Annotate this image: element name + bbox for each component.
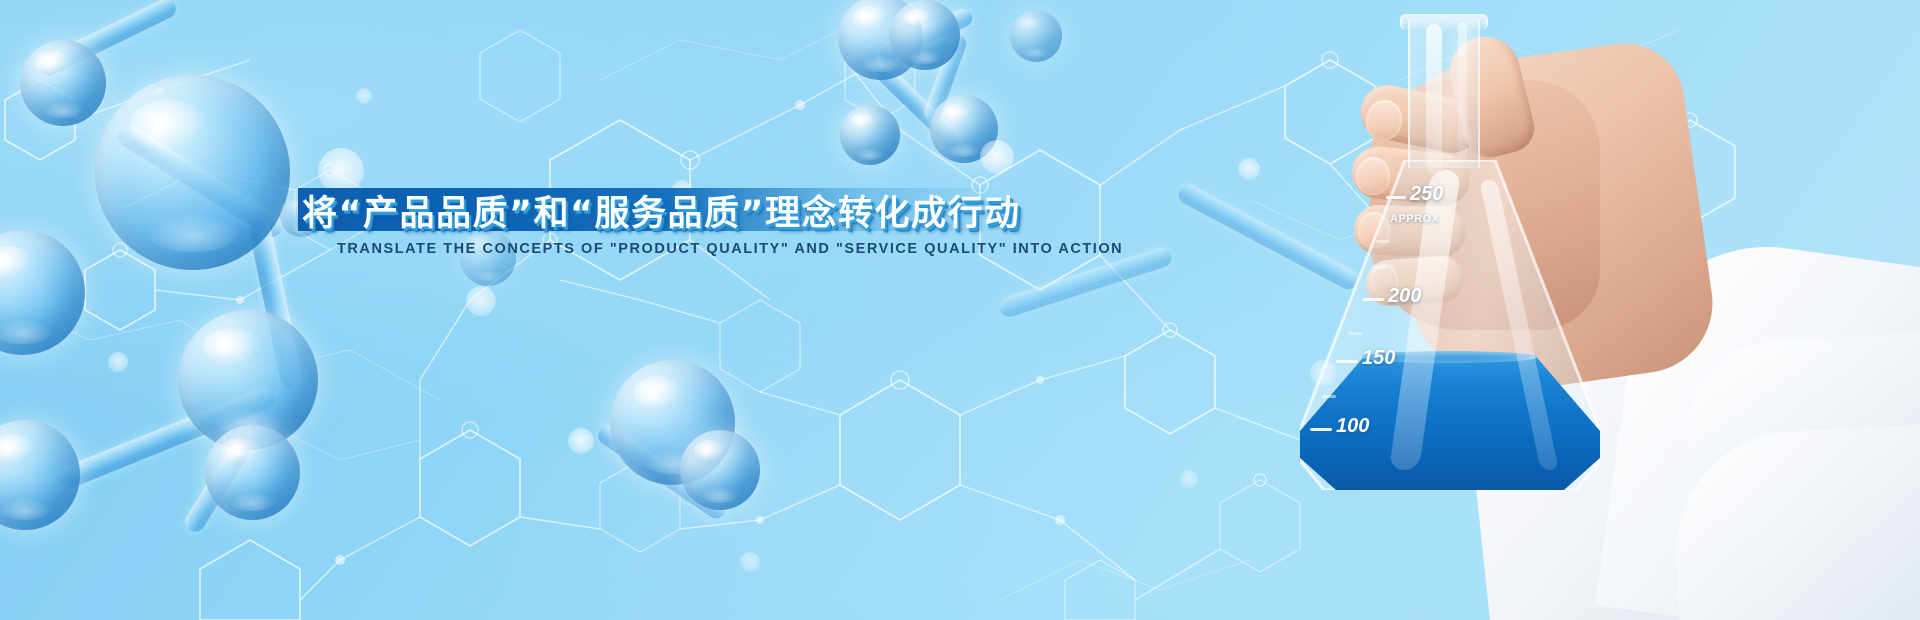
- molecule-sphere: [840, 105, 900, 165]
- hero-banner: 250 APPROX 200 150 100 将“产品品质”和“服务品质”理念转…: [0, 0, 1920, 620]
- page-title: 将“产品品质”和“服务品质”理念转化成行动: [302, 184, 1062, 236]
- graduation-label-100: 100: [1336, 415, 1369, 438]
- bokeh-dot: [356, 88, 372, 104]
- molecule-sphere: [205, 425, 300, 520]
- flask-rim: [1400, 14, 1488, 30]
- page-subtitle: TRANSLATE THE CONCEPTS OF "PRODUCT QUALI…: [337, 241, 1237, 257]
- flask-neck: [1408, 18, 1480, 168]
- flask-highlight: [1426, 24, 1442, 174]
- bokeh-dot: [980, 140, 1014, 174]
- graduation-label-250: 250: [1410, 183, 1443, 206]
- graduation-line-250: [1386, 196, 1406, 199]
- graduation-tick: [1348, 332, 1362, 335]
- molecule-sphere: [0, 420, 80, 530]
- graduation-tick: [1376, 240, 1390, 243]
- molecule-sphere: [0, 230, 85, 355]
- flask-highlight: [1458, 22, 1467, 162]
- molecule-sphere: [95, 75, 290, 270]
- graduation-label-150: 150: [1362, 347, 1395, 370]
- bokeh-dot: [1180, 470, 1198, 488]
- molecule-sphere: [20, 40, 106, 126]
- bokeh-dot: [740, 552, 760, 572]
- molecule-sphere: [460, 230, 516, 286]
- graduation-line-150: [1336, 360, 1358, 363]
- bokeh-dot: [466, 286, 496, 316]
- graduation-tick: [1322, 395, 1336, 398]
- graduation-label-approx: APPROX: [1390, 213, 1439, 225]
- erlenmeyer-flask: 250 APPROX 200 150 100: [1300, 10, 1630, 570]
- graduation-line-100: [1310, 428, 1332, 431]
- bokeh-dot: [108, 352, 128, 372]
- graduation-line-200: [1362, 298, 1384, 301]
- molecule-sphere: [1010, 10, 1062, 62]
- lab-photo-scene: 250 APPROX 200 150 100: [1220, 0, 1920, 620]
- graduation-label-200: 200: [1388, 285, 1421, 308]
- graduation-tick: [1372, 266, 1386, 269]
- molecule-sphere: [680, 430, 760, 510]
- molecule-sphere: [890, 0, 960, 70]
- bokeh-dot: [568, 428, 594, 454]
